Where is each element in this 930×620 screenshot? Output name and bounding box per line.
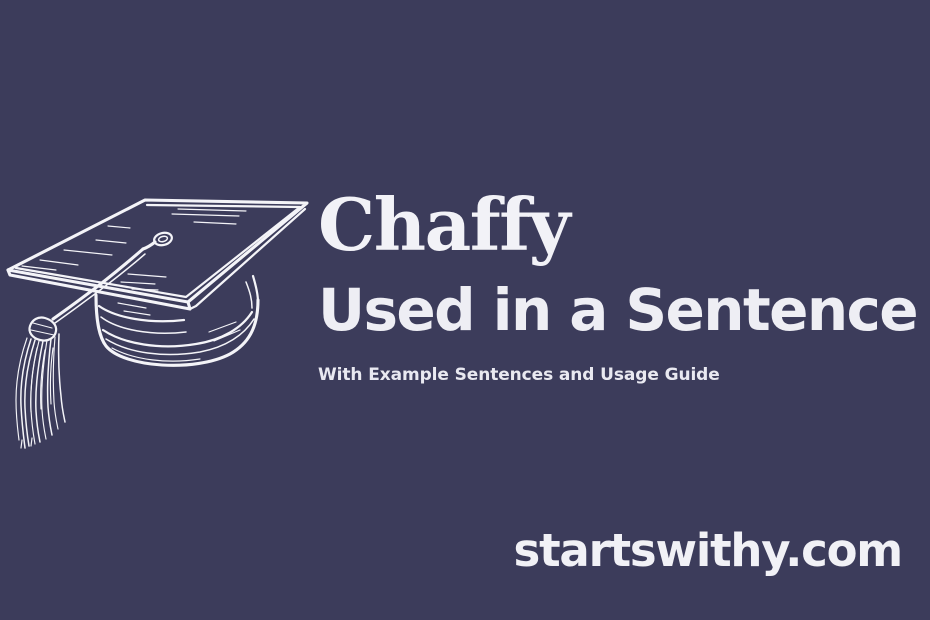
mortarboard-top [8, 200, 307, 309]
tassel-strands [16, 334, 65, 448]
promo-card: Chaffy Used in a Sentence With Example S… [0, 0, 930, 620]
page-subtitle: With Example Sentences and Usage Guide [318, 364, 918, 386]
headline-block: Chaffy Used in a Sentence With Example S… [318, 186, 918, 386]
page-title: Used in a Sentence [318, 278, 918, 342]
brand-domain: startswithy.com [514, 525, 902, 577]
word-title: Chaffy [318, 186, 918, 264]
cap-button [143, 231, 173, 249]
tassel-knot [29, 317, 56, 340]
graduation-cap-icon [0, 178, 312, 450]
